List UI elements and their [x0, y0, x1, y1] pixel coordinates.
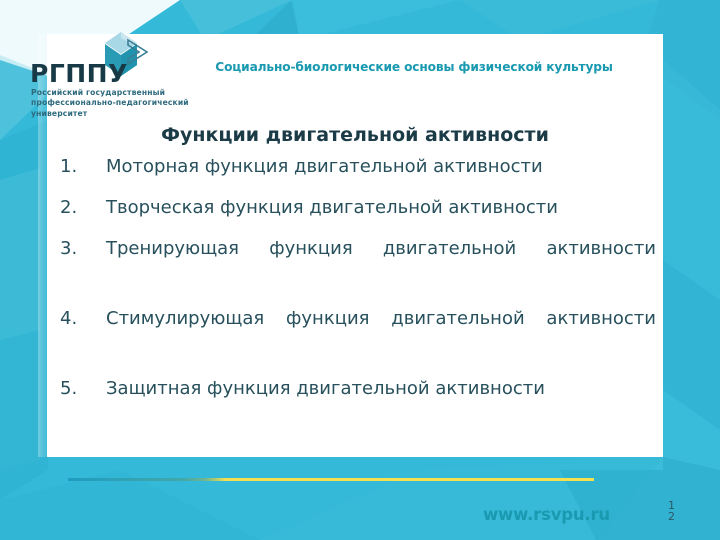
list-item-label: Творческая функция двигательной активнос…: [106, 193, 656, 222]
list-item: 2. Творческая функция двигательной актив…: [60, 193, 656, 222]
list-item: 3. Тренирующая функция двигательной акти…: [60, 234, 656, 292]
list-item-label: Защитная функция двигательной активности: [106, 374, 656, 403]
list-item: 4. Стимулирующая функция двигательной ак…: [60, 304, 656, 362]
list-item: 1. Моторная функция двигательной активно…: [60, 152, 656, 181]
list-item-label: Тренирующая функция двигательной активно…: [106, 234, 656, 292]
list-item-label: Стимулирующая функция двигательной актив…: [106, 304, 656, 362]
logo-subtitle: Российский государственный профессиональ…: [31, 88, 189, 119]
footer-website-url[interactable]: www.rsvpu.ru: [483, 505, 610, 524]
logo-subtitle-line-2: профессионально-педагогический: [31, 98, 189, 108]
page-number-digit-2: 2: [668, 511, 690, 522]
slide-page-number: 1 2: [668, 500, 690, 522]
list-item-number: 3.: [60, 234, 106, 263]
numbered-list: 1. Моторная функция двигательной активно…: [60, 152, 656, 415]
logo-subtitle-line-3: университет: [31, 109, 189, 119]
logo-subtitle-line-1: Российский государственный: [31, 88, 189, 98]
list-item-number: 1.: [60, 152, 106, 181]
page-title: Функции двигательной активности: [60, 124, 650, 146]
slide-header-title: Социально-биологические основы физическо…: [176, 60, 652, 74]
list-item-label: Моторная функция двигательной активности: [106, 152, 656, 181]
list-item-number: 4.: [60, 304, 106, 333]
list-item-number: 2.: [60, 193, 106, 222]
list-item: 5. Защитная функция двигательной активно…: [60, 374, 656, 403]
presentation-slide: РГППУ Российский государственный професс…: [0, 0, 720, 540]
list-item-number: 5.: [60, 374, 106, 403]
footer-gradient-rule: [68, 478, 594, 481]
logo-wordmark: РГППУ: [30, 61, 128, 86]
